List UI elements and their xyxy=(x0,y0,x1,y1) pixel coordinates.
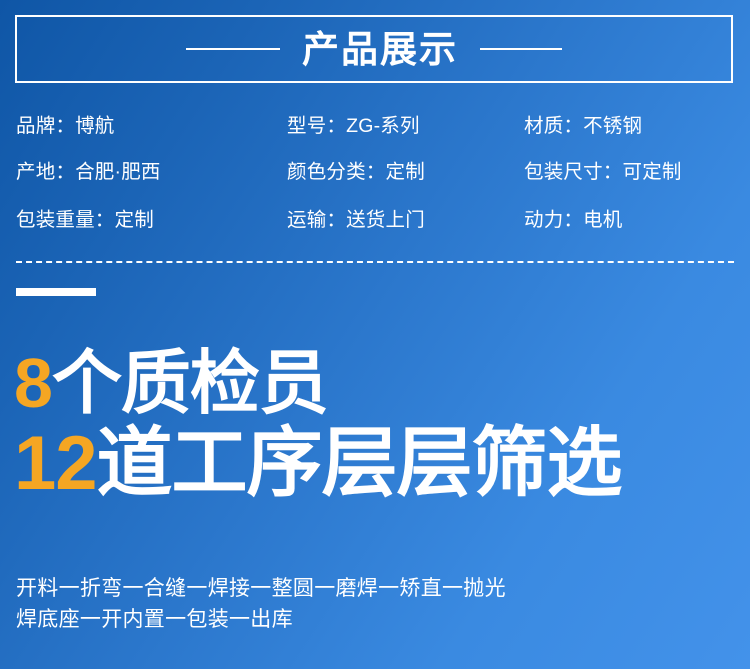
headline-text-inspectors: 个质检员 xyxy=(52,344,328,422)
spec-row: 包装重量：定制 运输：送货上门 动力：电机 xyxy=(16,206,734,252)
spec-row: 品牌：博航 型号：ZG-系列 材质：不锈钢 xyxy=(16,112,734,158)
spec-item-power: 动力：电机 xyxy=(524,206,623,234)
quality-headline: 8个质检员 12道工序层层筛选 xyxy=(14,344,734,506)
spec-item-model: 型号：ZG-系列 xyxy=(287,112,420,140)
page-title: 产品展示 xyxy=(302,31,458,68)
product-showcase-poster: 产品展示 品牌：博航 型号：ZG-系列 材质：不锈钢 产地：合肥·肥西 颜色分类… xyxy=(0,0,750,669)
section-accent-bar xyxy=(16,288,96,296)
process-flow-line-2: 焊底座一开内置一包装一出库 xyxy=(16,604,716,635)
header-banner-content: 产品展示 xyxy=(17,17,731,81)
spec-item-origin: 产地：合肥·肥西 xyxy=(16,158,161,186)
headline-number-inspectors: 8 xyxy=(14,344,52,422)
product-spec-grid: 品牌：博航 型号：ZG-系列 材质：不锈钢 产地：合肥·肥西 颜色分类：定制 包… xyxy=(16,112,734,252)
title-rule-right-icon xyxy=(480,48,562,50)
spec-item-package-weight: 包装重量：定制 xyxy=(16,206,154,234)
dashed-divider xyxy=(16,261,734,263)
headline-line-2: 12道工序层层筛选 xyxy=(14,422,734,506)
header-banner-box: 产品展示 xyxy=(15,15,733,83)
process-flow-text: 开料一折弯一合缝一焊接一整圆一磨焊一矫直一抛光 焊底座一开内置一包装一出库 xyxy=(16,573,716,635)
headline-line-1: 8个质检员 xyxy=(14,344,734,422)
headline-text-processes: 道工序层层筛选 xyxy=(97,421,622,506)
title-rule-left-icon xyxy=(186,48,280,50)
headline-number-processes: 12 xyxy=(14,421,97,506)
spec-item-material: 材质：不锈钢 xyxy=(524,112,642,140)
spec-row: 产地：合肥·肥西 颜色分类：定制 包装尺寸：可定制 xyxy=(16,158,734,204)
spec-item-brand: 品牌：博航 xyxy=(16,112,115,140)
spec-item-package-size: 包装尺寸：可定制 xyxy=(524,158,682,186)
process-flow-line-1: 开料一折弯一合缝一焊接一整圆一磨焊一矫直一抛光 xyxy=(16,573,716,604)
spec-item-color-category: 颜色分类：定制 xyxy=(287,158,425,186)
spec-item-shipping: 运输：送货上门 xyxy=(287,206,425,234)
